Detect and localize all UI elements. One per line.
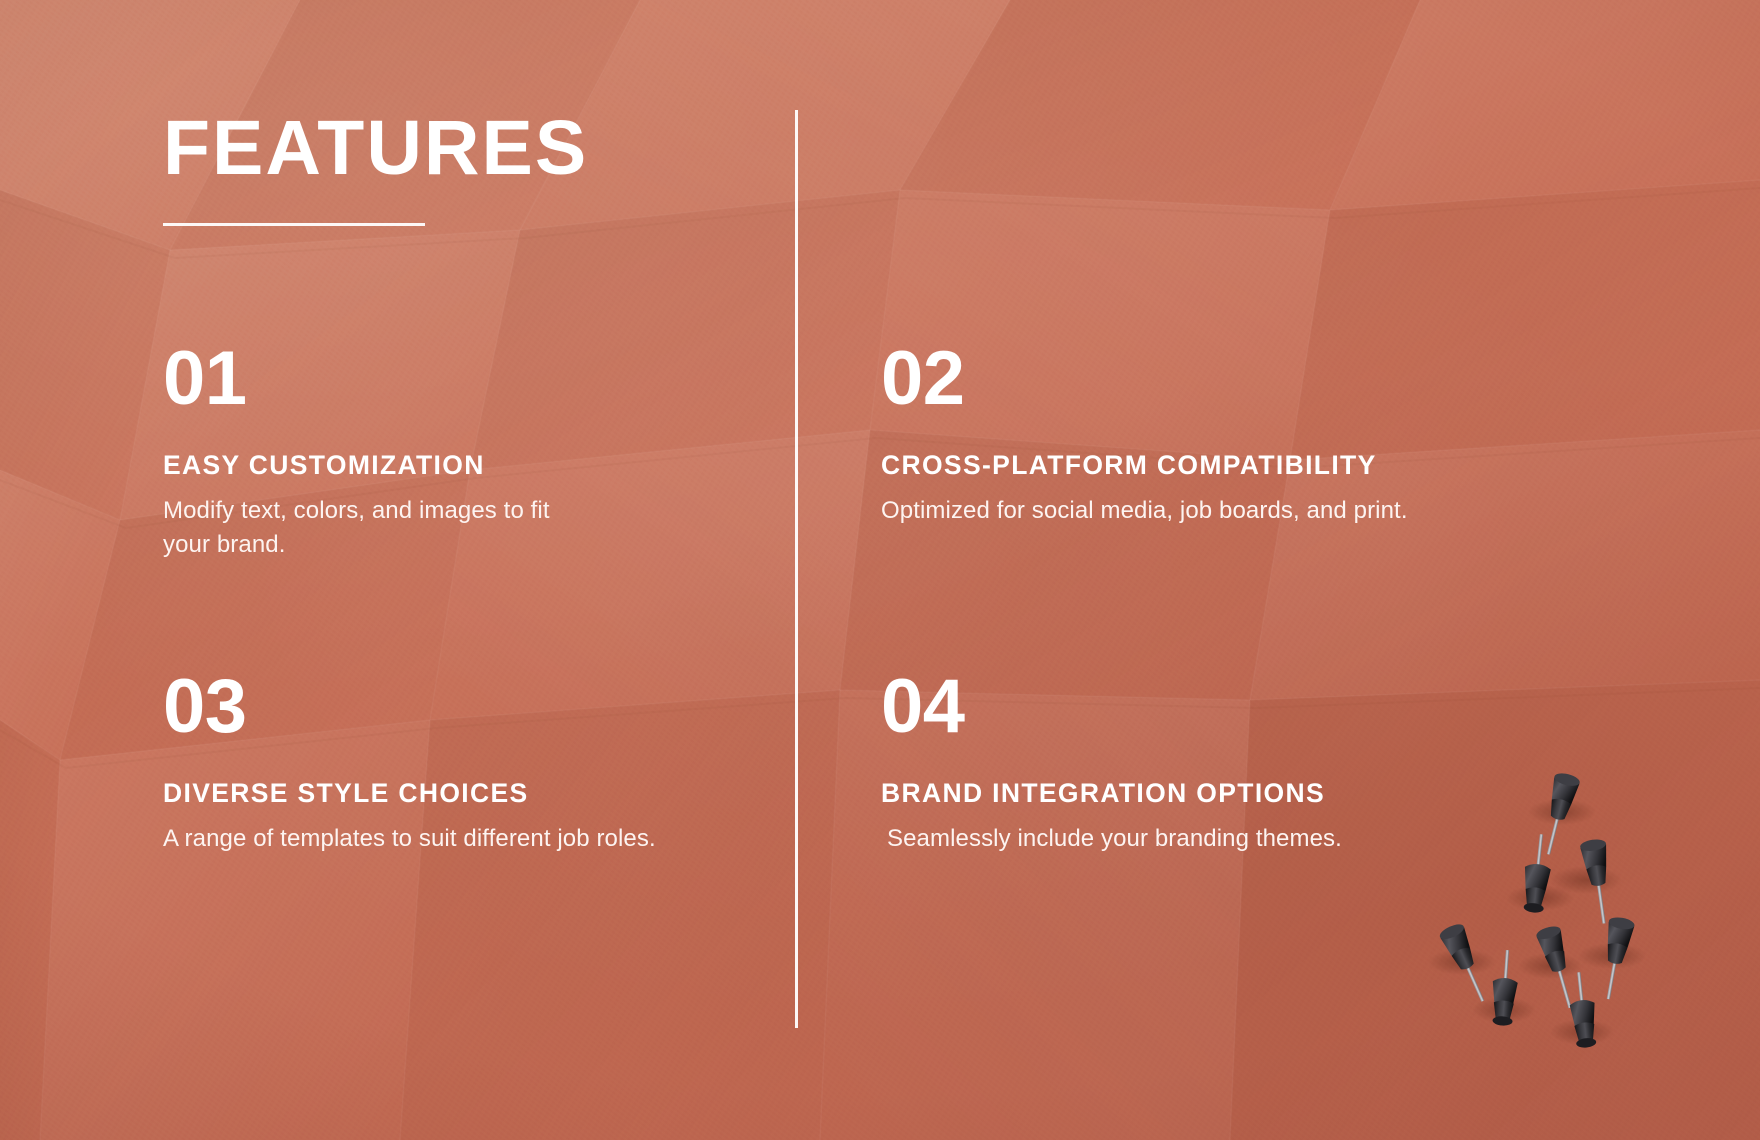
- feature-heading: EASY CUSTOMIZATION: [163, 450, 763, 481]
- feature-number: 04: [881, 672, 1581, 742]
- feature-item-01: 01 EASY CUSTOMIZATION Modify text, color…: [163, 344, 763, 562]
- feature-heading: DIVERSE STYLE CHOICES: [163, 778, 763, 809]
- feature-item-03: 03 DIVERSE STYLE CHOICES A range of temp…: [163, 672, 763, 856]
- feature-number: 02: [881, 344, 1581, 414]
- feature-heading: CROSS-PLATFORM COMPATIBILITY: [881, 450, 1581, 481]
- poster-content: FEATURES 01 EASY CUSTOMIZATION Modify te…: [0, 0, 1760, 1140]
- feature-body: Modify text, colors, and images to fit y…: [163, 494, 583, 562]
- feature-item-02: 02 CROSS-PLATFORM COMPATIBILITY Optimize…: [881, 344, 1581, 528]
- feature-body: A range of templates to suit different j…: [163, 822, 763, 856]
- push-pins-cluster: [1340, 760, 1760, 1140]
- feature-body: Optimized for social media, job boards, …: [881, 494, 1581, 528]
- feature-number: 03: [163, 672, 763, 742]
- feature-number: 01: [163, 344, 763, 414]
